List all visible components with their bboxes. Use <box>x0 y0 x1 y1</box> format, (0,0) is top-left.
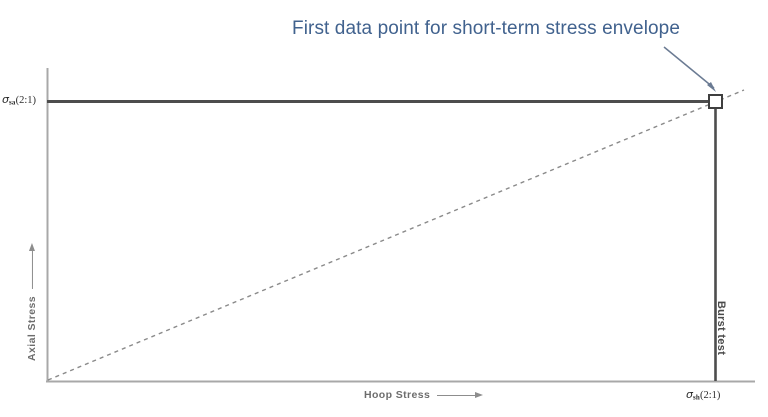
y-axis-sigma-symbol: σ <box>2 93 9 106</box>
x-axis-arrow-icon <box>437 392 483 399</box>
x-axis-value-label: σsh(2:1) <box>686 388 720 402</box>
x-axis-subscript: sh <box>693 394 700 402</box>
y-axis-value-label: σsa(2:1) <box>2 93 36 107</box>
stress-envelope-diagram: First data point for short-term stress e… <box>0 0 768 417</box>
y-axis-title-text: Axial Stress <box>26 296 38 361</box>
x-axis-ratio: (2:1) <box>700 390 720 401</box>
x-axis-title-text: Hoop Stress <box>364 389 430 401</box>
first-data-point-marker <box>709 95 722 108</box>
y-axis-ratio: (2:1) <box>16 95 36 106</box>
callout-arrow <box>664 47 716 92</box>
plot-canvas <box>0 0 768 417</box>
y-axis-arrow-icon <box>28 243 35 289</box>
loading-path-dashed-line <box>48 90 744 380</box>
y-axis-subscript: sa <box>9 99 16 107</box>
x-axis-title: Hoop Stress <box>364 389 483 401</box>
x-axis-sigma-symbol: σ <box>686 388 693 401</box>
burst-test-label: Burst test <box>715 273 727 383</box>
y-axis-title: Axial Stress <box>26 243 38 361</box>
